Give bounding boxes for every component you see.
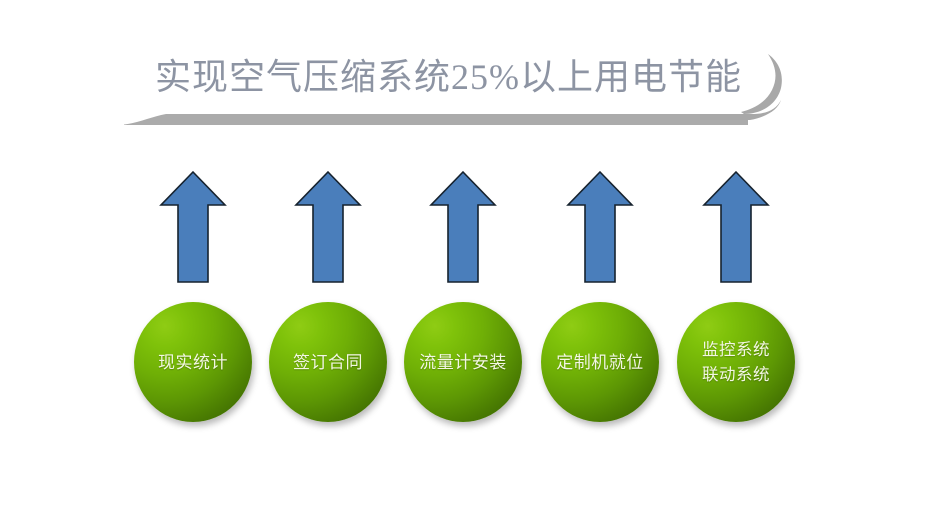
step-node-1[interactable]: 现实统计: [134, 302, 252, 422]
step-node-label: 流量计安装: [419, 351, 507, 374]
arrow-row: [0, 170, 945, 285]
slide-canvas: 实现空气压缩系统25%以上用电节能 现实统计 签订合同 流量计安装: [0, 0, 945, 529]
step-node-3[interactable]: 流量计安装: [404, 302, 522, 422]
step-node-2[interactable]: 签订合同: [269, 302, 387, 422]
step-node-4[interactable]: 定制机就位: [541, 302, 659, 422]
up-arrow-icon: [294, 170, 362, 284]
step-node-label: 签订合同: [293, 351, 363, 374]
page-title: 实现空气压缩系统25%以上用电节能: [155, 48, 755, 106]
step-circle-row: 现实统计 签订合同 流量计安装 定制机就位 监控系统 联动系统: [0, 302, 945, 427]
up-arrow-icon: [702, 170, 770, 284]
step-node-5[interactable]: 监控系统 联动系统: [677, 302, 795, 422]
up-arrow-icon: [159, 170, 227, 284]
banner-bar-icon: [124, 114, 748, 125]
step-node-label: 监控系统 联动系统: [702, 337, 770, 387]
up-arrow-icon: [429, 170, 497, 284]
step-node-label: 定制机就位: [556, 351, 644, 374]
title-banner: 实现空气压缩系统25%以上用电节能: [0, 0, 945, 150]
up-arrow-icon: [566, 170, 634, 284]
step-node-label: 现实统计: [158, 351, 228, 374]
